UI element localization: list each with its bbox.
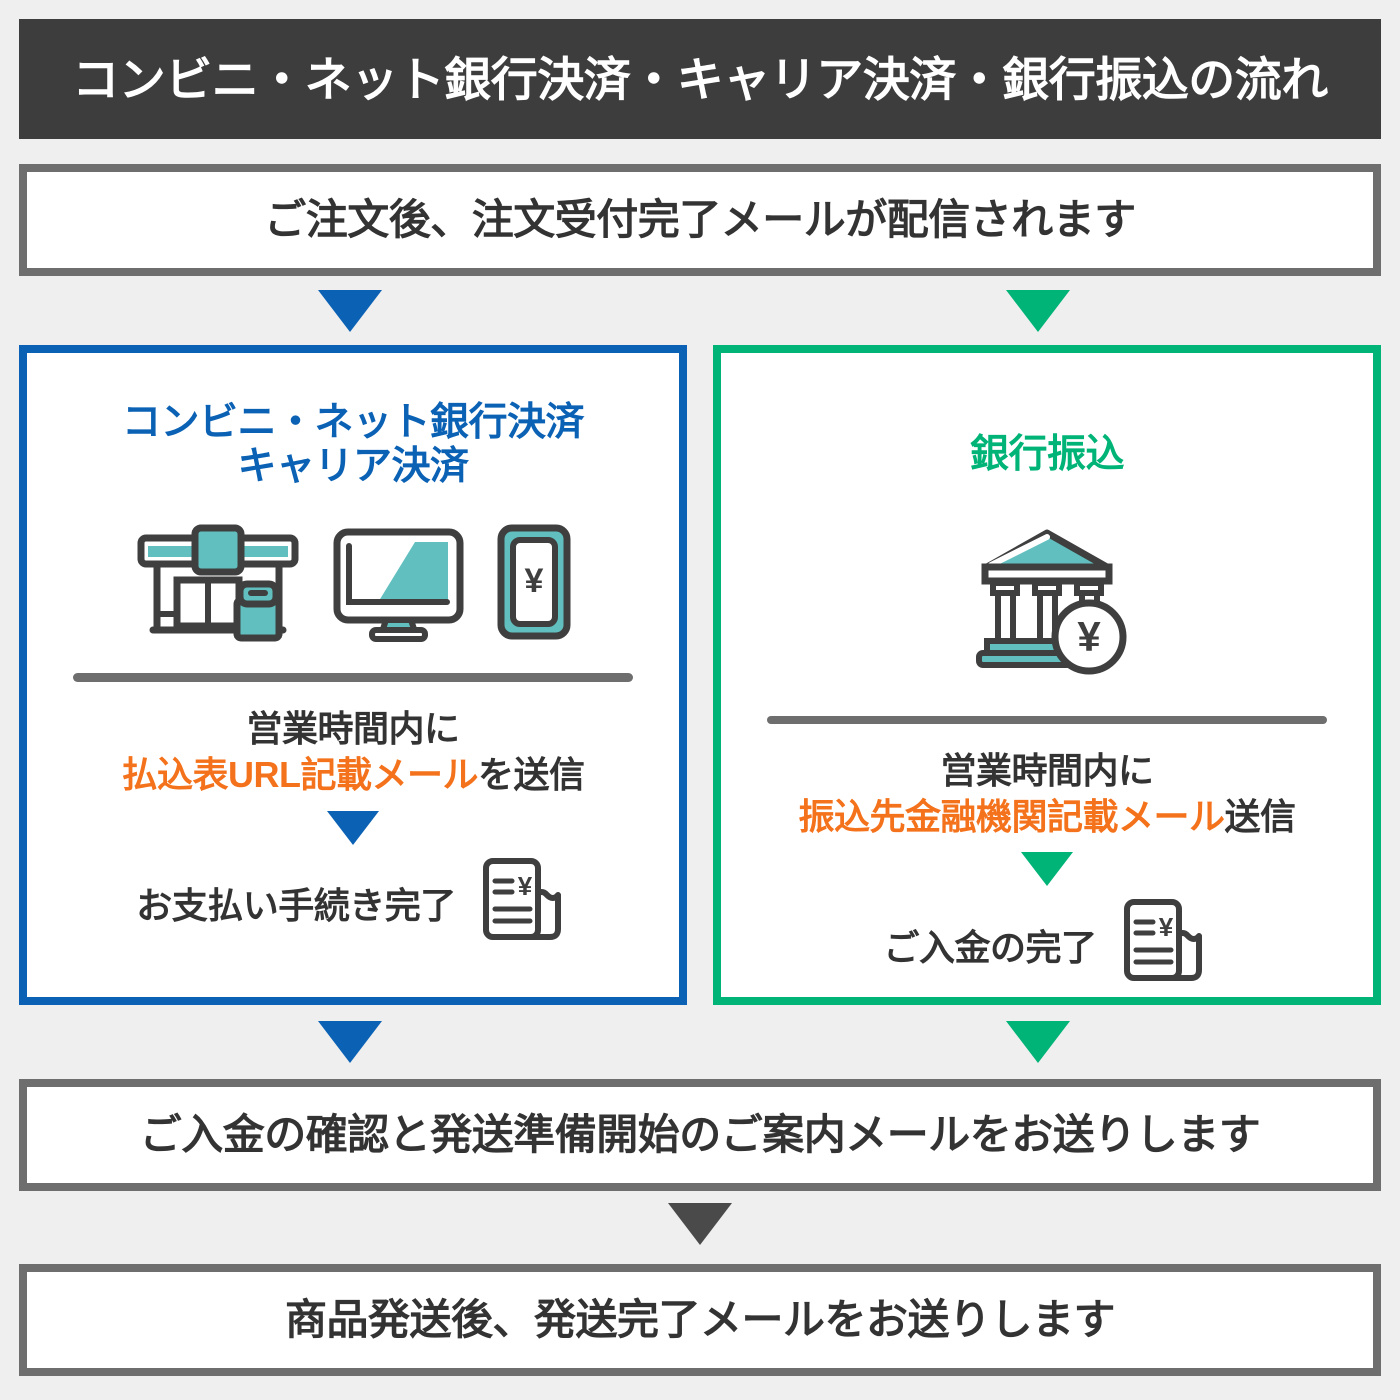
arrow-down-to-konbini-icon xyxy=(318,290,382,332)
arrow-down-to-furikomi-icon xyxy=(1006,290,1070,332)
konbini-notice-suffix: を送信 xyxy=(478,754,585,795)
konbini-notice-text: 営業時間内に 払込表URL記載メールを送信 xyxy=(121,706,584,798)
furikomi-notice-text: 営業時間内に 振込先金融機関記載メール送信 xyxy=(798,748,1295,840)
step-shipped-box: 商品発送後、発送完了メールをお送りします xyxy=(19,1264,1381,1376)
svg-text:¥: ¥ xyxy=(518,871,533,901)
step-payment-received-label: ご入金の確認と発送準備開始のご案内メールをお送りします xyxy=(140,1114,1261,1156)
step-payment-received-box: ご入金の確認と発送準備開始のご案内メールをお送りします xyxy=(19,1079,1381,1191)
panel-konbini-heading-line2: キャリア決済 xyxy=(237,445,468,488)
flow-diagram-canvas: コンビニ・ネット銀行決済・キャリア決済・銀行振込の流れ ご注文後、注文受付完了メ… xyxy=(0,0,1400,1400)
svg-text:¥: ¥ xyxy=(1158,912,1173,942)
furikomi-notice-highlight: 振込先金融機関記載メール xyxy=(798,796,1224,837)
step-order-confirmation-box: ご注文後、注文受付完了メールが配信されます xyxy=(19,164,1381,276)
konbini-notice-highlight: 払込表URL記載メール xyxy=(121,754,478,795)
panel-konbini-heading-line1: コンビニ・ネット銀行決済 xyxy=(122,401,584,444)
panel-konbini-payment: コンビニ・ネット銀行決済 キャリア決済 xyxy=(19,345,687,1005)
arrow-down-to-shipped-icon xyxy=(668,1203,732,1245)
furikomi-icon-row: ¥ xyxy=(957,525,1137,690)
furikomi-complete-label: ご入金の完了 xyxy=(883,919,1096,971)
arrow-down-furikomi-complete-icon xyxy=(1021,852,1073,886)
arrow-furikomi-to-payment-received-icon xyxy=(1006,1021,1070,1063)
step-shipped-label: 商品発送後、発送完了メールをお送りします xyxy=(285,1299,1115,1341)
konbini-complete-label: お支払い手続き完了 xyxy=(136,877,456,929)
smartphone-yen-icon: ¥ xyxy=(494,522,574,647)
furikomi-complete-row: ご入金の完了 ¥ xyxy=(883,892,1210,997)
arrow-down-konbini-complete-icon xyxy=(327,811,379,845)
panel-konbini-heading: コンビニ・ネット銀行決済 キャリア決済 xyxy=(122,401,584,488)
bank-yen-icon: ¥ xyxy=(957,525,1137,690)
panel-furikomi-heading: 銀行振込 xyxy=(970,433,1124,477)
furikomi-notice-line1: 営業時間内に xyxy=(940,750,1153,791)
desktop-monitor-icon xyxy=(331,522,466,647)
invoice-yen-icon: ¥ xyxy=(1111,892,1211,997)
furikomi-inner-arrow-wrap xyxy=(721,852,1373,886)
konbini-divider xyxy=(73,673,633,682)
furikomi-divider xyxy=(767,716,1327,724)
furikomi-notice-suffix: 送信 xyxy=(1225,796,1296,837)
diagram-header: コンビニ・ネット銀行決済・キャリア決済・銀行振込の流れ xyxy=(19,19,1381,139)
svg-text:¥: ¥ xyxy=(524,562,543,600)
arrow-konbini-to-payment-received-icon xyxy=(318,1021,382,1063)
konbini-inner-arrow-wrap xyxy=(27,811,679,845)
konbini-notice-line1: 営業時間内に xyxy=(246,708,459,749)
page-title: コンビニ・ネット銀行決済・キャリア決済・銀行振込の流れ xyxy=(72,56,1328,103)
convenience-store-icon xyxy=(133,522,303,647)
invoice-yen-icon: ¥ xyxy=(470,851,570,956)
svg-text:¥: ¥ xyxy=(1077,613,1101,660)
step-order-confirmation-label: ご注文後、注文受付完了メールが配信されます xyxy=(264,199,1136,241)
konbini-complete-row: お支払い手続き完了 ¥ xyxy=(136,851,570,956)
konbini-icon-row: ¥ xyxy=(133,522,574,647)
panel-bank-transfer: 銀行振込 xyxy=(713,345,1381,1005)
panel-furikomi-heading-line1: 銀行振込 xyxy=(970,433,1124,476)
